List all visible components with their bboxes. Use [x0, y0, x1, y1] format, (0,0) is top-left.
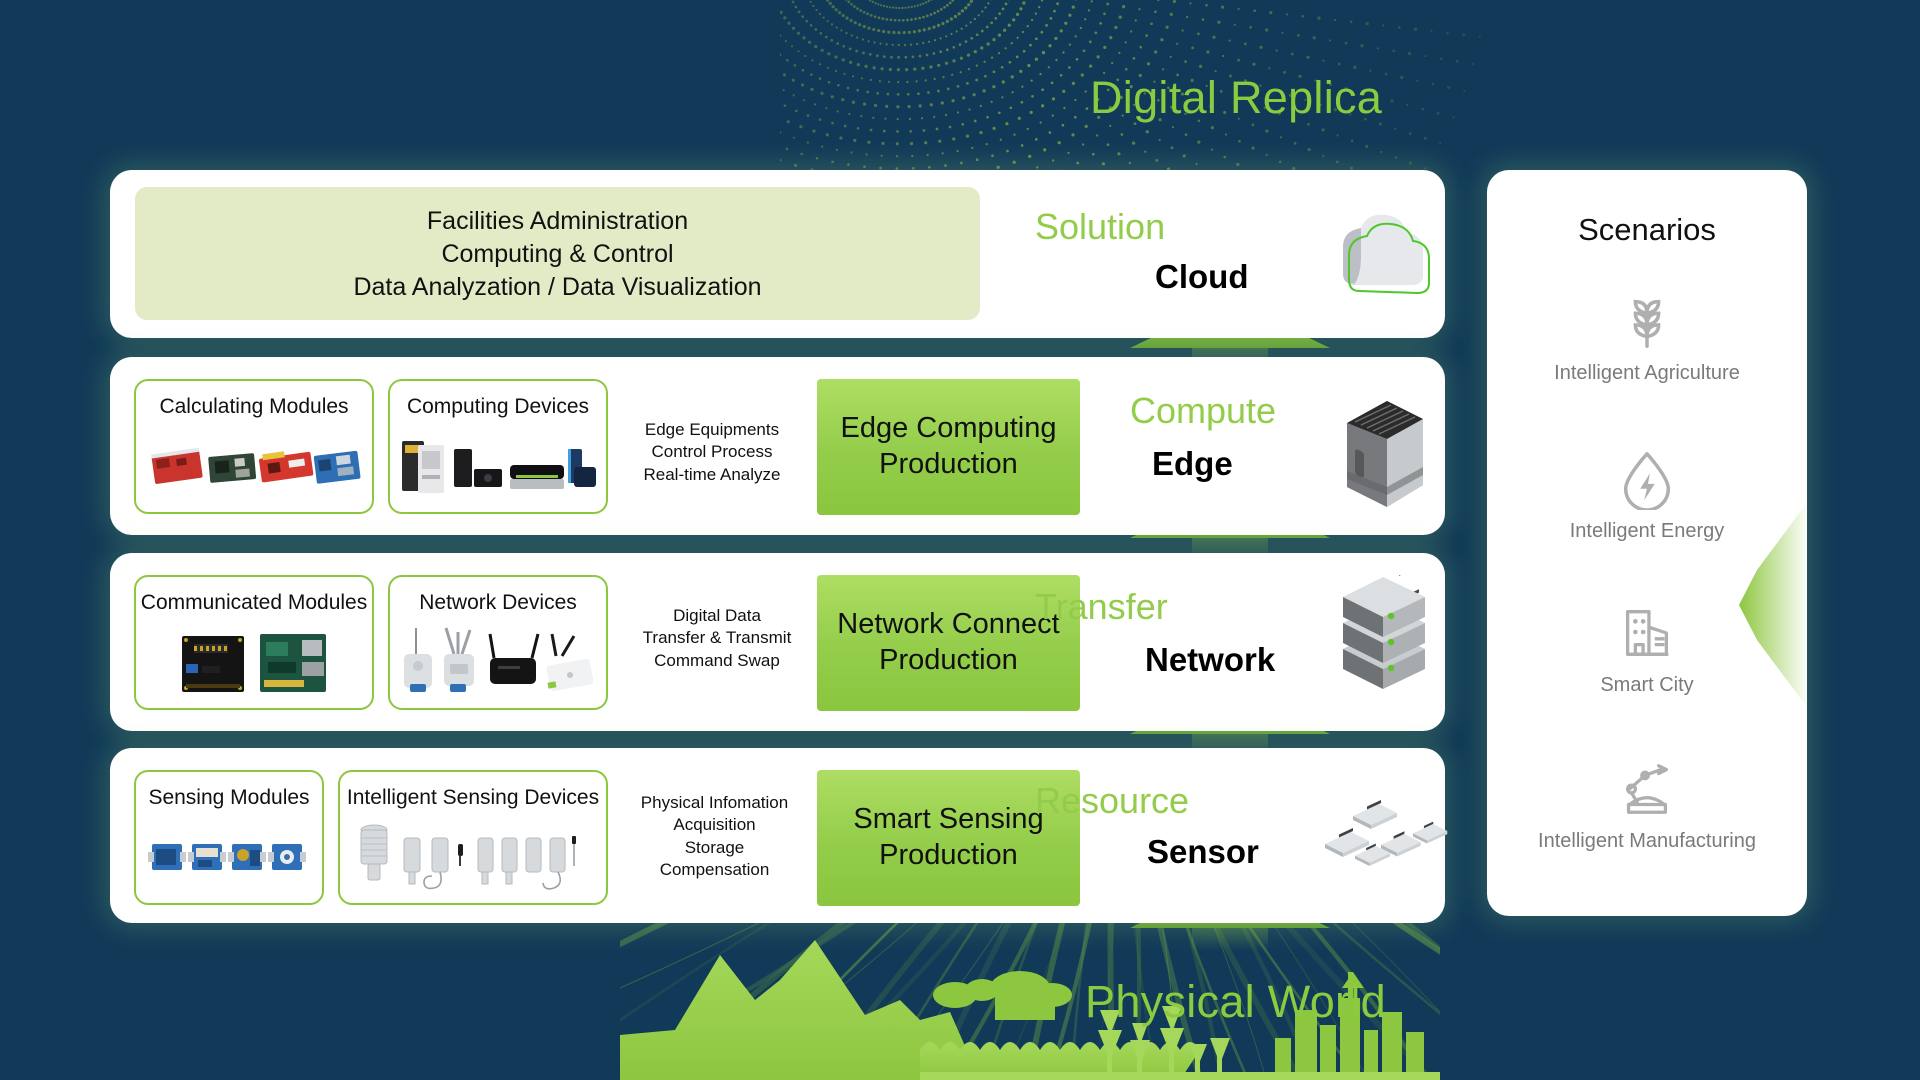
desc-resource-line-1: Physical Infomation — [622, 792, 807, 814]
page-title-digital-replica: Digital Replica — [1090, 72, 1382, 124]
art-comm-boards — [136, 615, 372, 708]
desc-transfer-line-2: Transfer & Transmit — [622, 627, 812, 649]
card-title-sensing-modules: Sensing Modules — [148, 786, 309, 810]
card-title-communicated-modules: Communicated Modules — [141, 591, 367, 615]
desc-resource: Physical Infomation Acquisition Storage … — [622, 792, 807, 882]
card-network-devices: Network Devices — [388, 575, 608, 710]
desc-resource-line-2: Acquisition — [622, 814, 807, 836]
solution-summary-box: Facilities Administration Computing & Co… — [135, 187, 980, 320]
row-panel-solution: Facilities Administration Computing & Co… — [110, 170, 1445, 338]
scenario-label-smart-city: Smart City — [1600, 674, 1693, 697]
desc-compute-line-1: Edge Equipments — [622, 419, 802, 441]
production-line-2-sensing: Production — [879, 839, 1018, 873]
scenario-item-manufacturing[interactable]: Intelligent Manufacturing — [1487, 758, 1807, 853]
solution-line-3: Data Analyzation / Data Visualization — [353, 273, 761, 301]
desc-transfer-line-3: Command Swap — [622, 650, 812, 672]
server-rack-icon — [1325, 575, 1450, 705]
card-calculating-modules: Calculating Modules — [134, 379, 374, 514]
card-title-calculating-modules: Calculating Modules — [159, 395, 348, 419]
art-sensor-boards — [136, 810, 322, 903]
art-routers — [390, 615, 606, 708]
layer-label-network: Network — [1145, 641, 1275, 679]
card-intelligent-sensing-devices: Intelligent Sensing Devices — [338, 770, 608, 905]
solution-line-1: Facilities Administration — [427, 207, 688, 235]
production-line-2-network: Production — [879, 644, 1018, 678]
desc-resource-line-3: Storage — [622, 837, 807, 859]
scenario-label-manufacturing: Intelligent Manufacturing — [1538, 830, 1756, 853]
layer-label-cloud: Cloud — [1155, 258, 1248, 296]
card-title-network-devices: Network Devices — [419, 591, 577, 615]
card-title-computing-devices: Computing Devices — [407, 395, 589, 419]
card-title-intelligent-sensing-devices: Intelligent Sensing Devices — [347, 786, 599, 810]
scenario-item-energy[interactable]: Intelligent Energy — [1487, 448, 1807, 543]
cloud-icon — [1315, 195, 1435, 305]
card-communicated-modules: Communicated Modules — [134, 575, 374, 710]
page-title-physical-world: Physical World — [1085, 976, 1386, 1028]
sensor-chips-icon — [1325, 796, 1455, 886]
scenario-label-agriculture: Intelligent Agriculture — [1554, 362, 1740, 385]
layer-label-edge: Edge — [1152, 445, 1233, 483]
diagram-canvas: Digital Replica Physical World Faci — [0, 0, 1920, 1080]
layer-label-resource: Resource — [1035, 780, 1189, 822]
row-panel-transfer: Communicated Modules — [110, 553, 1445, 731]
scenario-item-smart-city[interactable]: Smart City — [1487, 602, 1807, 697]
desc-transfer-line-1: Digital Data — [622, 605, 812, 627]
art-computers — [390, 419, 606, 512]
energy-drop-icon — [1616, 448, 1678, 510]
desc-resource-line-4: Compensation — [622, 859, 807, 881]
desc-compute-line-2: Control Process — [622, 441, 802, 463]
robot-arm-icon — [1616, 758, 1678, 820]
solution-line-2: Computing & Control — [441, 240, 673, 268]
scenario-label-energy: Intelligent Energy — [1570, 520, 1725, 543]
desc-compute-line-3: Real-time Analyze — [622, 464, 802, 486]
card-computing-devices: Computing Devices — [388, 379, 608, 514]
art-dev-boards — [136, 419, 372, 512]
production-box-edge-computing: Edge Computing Production — [817, 379, 1080, 515]
desc-transfer: Digital Data Transfer & Transmit Command… — [622, 605, 812, 672]
layer-label-compute: Compute — [1130, 390, 1276, 432]
buildings-icon — [1616, 602, 1678, 664]
row-panel-resource: Sensing Modules — [110, 748, 1445, 923]
production-line-1-network: Network Connect — [837, 608, 1059, 642]
layer-label-sensor: Sensor — [1147, 833, 1259, 871]
card-sensing-modules: Sensing Modules — [134, 770, 324, 905]
edge-server-icon — [1325, 375, 1445, 515]
scenarios-title: Scenarios — [1487, 212, 1807, 248]
layer-label-solution: Solution — [1035, 206, 1165, 248]
art-sensor-probes — [340, 810, 606, 903]
desc-compute: Edge Equipments Control Process Real-tim… — [622, 419, 802, 486]
scenario-item-agriculture[interactable]: Intelligent Agriculture — [1487, 290, 1807, 385]
row-panel-compute: Calculating Modules — [110, 357, 1445, 535]
layer-label-transfer: Transfer — [1035, 586, 1168, 628]
scenarios-panel: Scenarios Intelligent Agriculture — [1487, 170, 1807, 916]
production-line-1-edge: Edge Computing — [840, 412, 1056, 446]
production-line-1-sensing: Smart Sensing — [853, 803, 1043, 837]
wheat-icon — [1616, 290, 1678, 352]
production-line-2-edge: Production — [879, 448, 1018, 482]
